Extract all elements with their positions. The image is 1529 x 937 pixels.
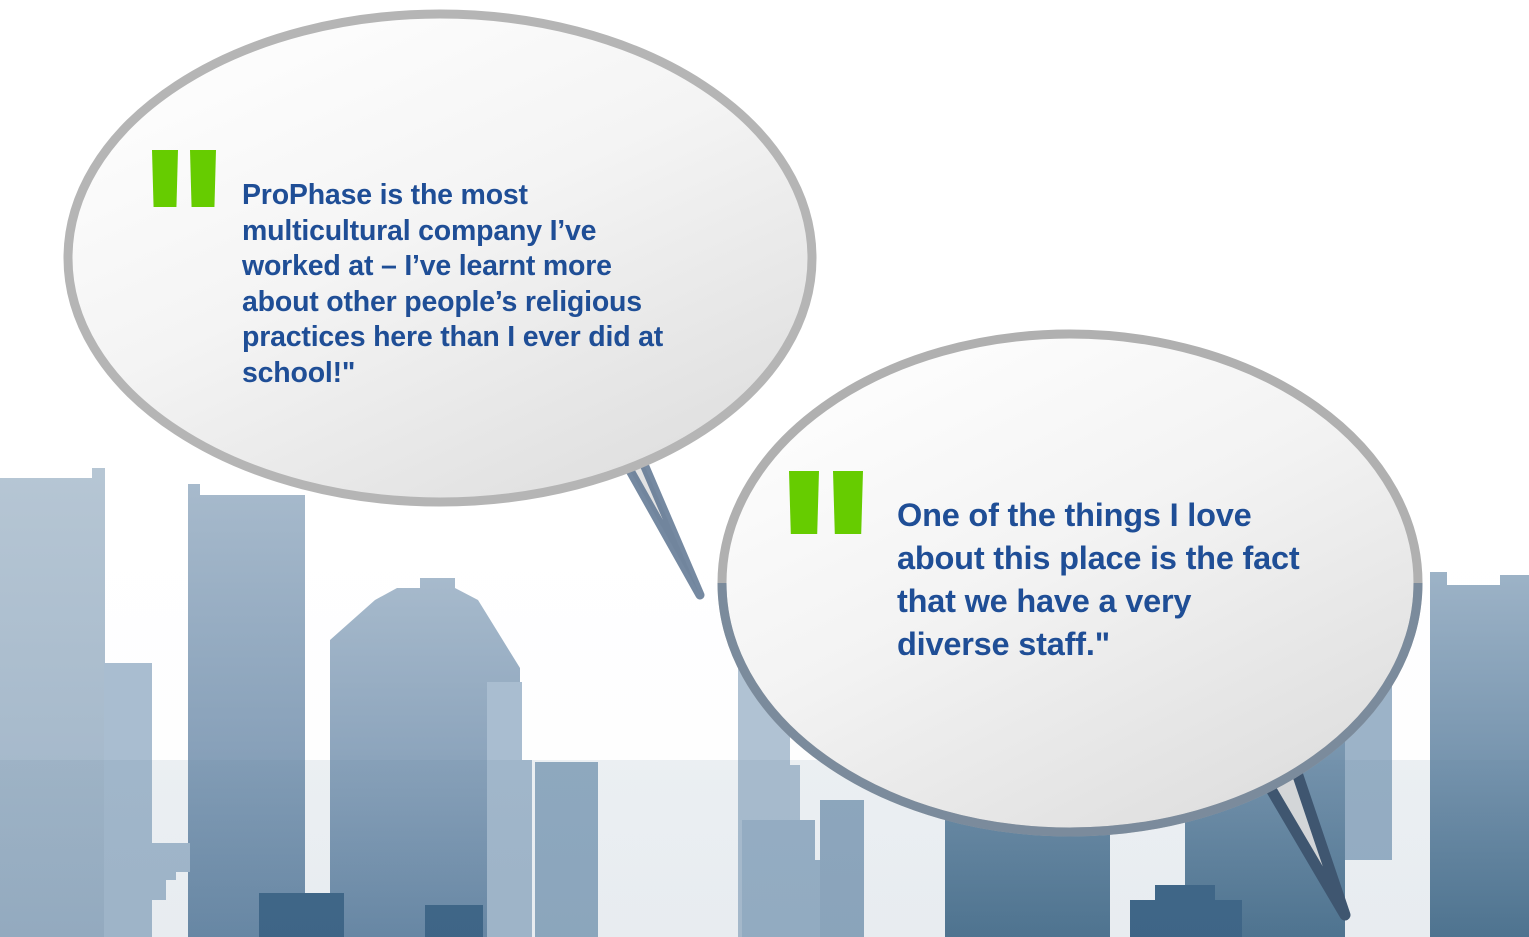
quote-block-2: One of the things I love about this plac…	[789, 471, 1409, 666]
quotation-mark-bar-right	[190, 150, 216, 207]
slide-canvas: ProPhase is the most multicultural compa…	[0, 0, 1529, 937]
quote-text-1: ProPhase is the most multicultural compa…	[242, 178, 663, 391]
quote-block-1: ProPhase is the most multicultural compa…	[152, 150, 732, 391]
quotation-mark-bar-left	[152, 150, 178, 207]
quote-text-2: One of the things I love about this plac…	[897, 494, 1300, 666]
quotation-mark-icon	[152, 150, 228, 207]
speech-bubbles-layer	[0, 0, 1529, 937]
quotation-mark-bar-right	[833, 471, 863, 534]
quotation-mark-bar-left	[789, 471, 819, 534]
quotation-mark-icon	[789, 471, 877, 534]
